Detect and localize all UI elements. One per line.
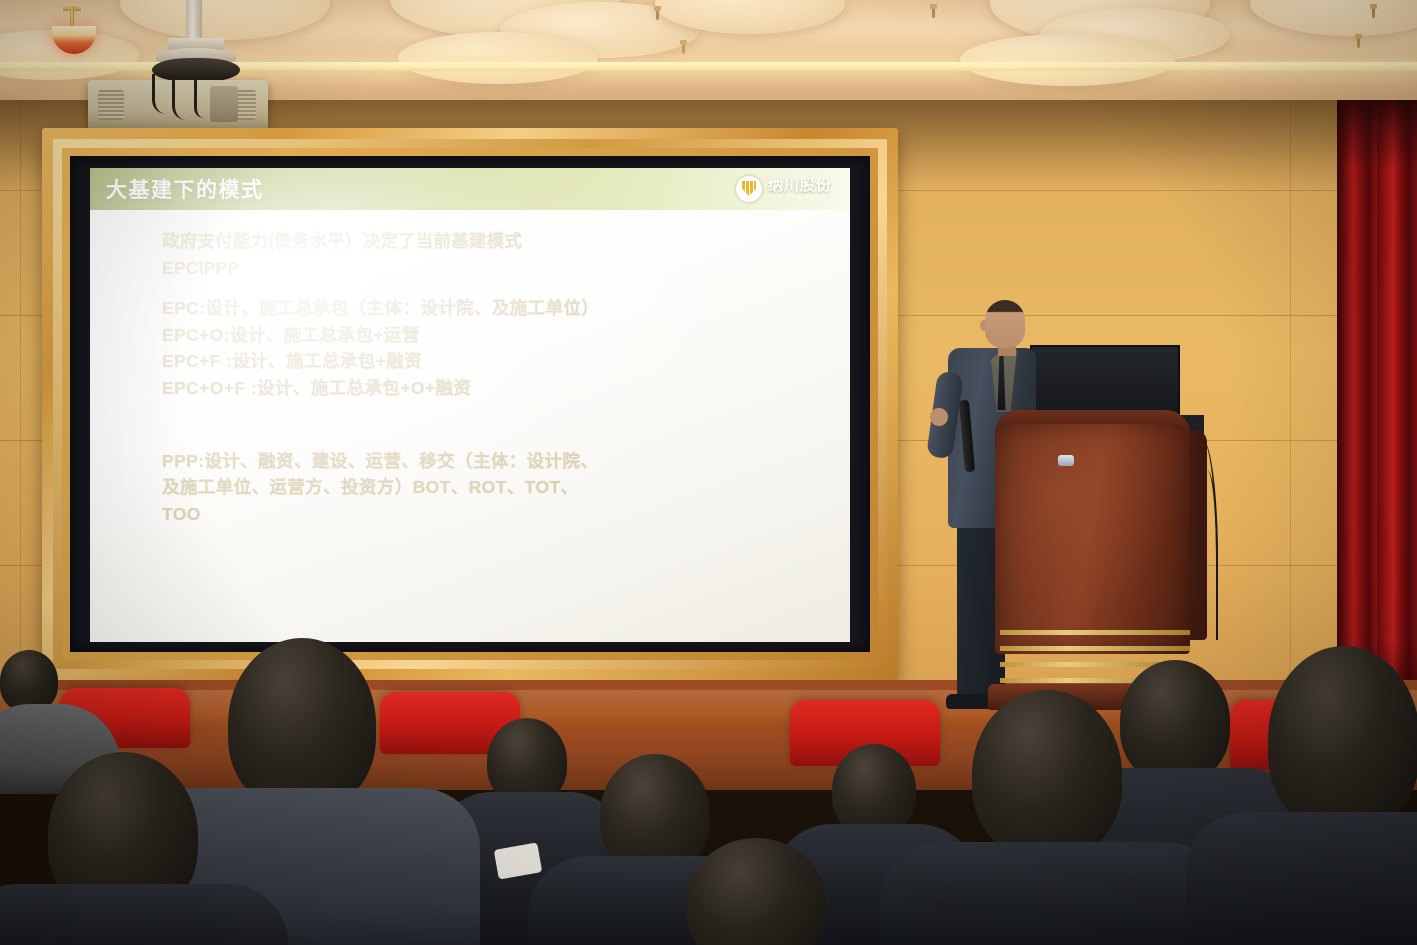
audience-member — [1120, 660, 1230, 782]
projector-lens — [210, 86, 238, 122]
presenter-hand — [930, 408, 948, 426]
company-logo: 纳川股份 NEWCHOICE PIPE — [736, 176, 832, 202]
sprinkler-head-icon — [680, 40, 687, 54]
audience-member — [228, 638, 376, 810]
audience-member — [1268, 646, 1417, 832]
slide-lead-line: 政府支付能力(债务水平）决定了当前基建模式 — [162, 228, 850, 255]
projector-cable — [172, 74, 186, 120]
projection-screen: 大基建下的模式 纳川股份 NEWCHOICE PIPE 政府支付能力(债务水平）… — [90, 168, 850, 642]
projector-cable — [194, 76, 204, 118]
presenter-head — [985, 300, 1025, 348]
audience-member — [832, 744, 916, 836]
slide-epc-line: EPC:设计、施工总承包（主体：设计院、及施工单位） — [162, 295, 850, 322]
projector-mount-pole — [186, 0, 202, 40]
sprinkler-head-icon — [930, 4, 937, 18]
curtain-top-shadow — [1337, 100, 1417, 170]
slide-title: 大基建下的模式 — [106, 174, 264, 204]
audience-member-shoulders — [1186, 812, 1417, 945]
slide-ppp-line: TOO — [162, 501, 850, 528]
slide-content: 政府支付能力(债务水平）决定了当前基建模式 EPC\PPP EPC:设计、施工总… — [90, 210, 850, 527]
confidence-monitor — [1030, 345, 1180, 417]
slide-epc-line: EPC+F :设计、施工总承包+融资 — [162, 348, 850, 375]
sprinkler-head-icon — [654, 6, 661, 20]
conference-hall-photo: 大基建下的模式 纳川股份 NEWCHOICE PIPE 政府支付能力(债务水平）… — [0, 0, 1417, 945]
wooden-podium — [995, 424, 1190, 654]
audience-member-shoulders — [0, 884, 288, 945]
shield-emblem-icon — [736, 176, 762, 202]
logo-company-name-cn: 纳川股份 — [768, 178, 832, 193]
audience-member-shoulders — [880, 842, 1226, 945]
projector-cable — [152, 74, 170, 114]
slide-title-bar: 大基建下的模式 纳川股份 NEWCHOICE PIPE — [90, 168, 850, 210]
audience-member — [0, 650, 58, 712]
slide-epc-line: EPC+O+F :设计、施工总承包+O+融资 — [162, 375, 850, 402]
sprinkler-head-icon — [1355, 34, 1362, 48]
podium-emblem — [1058, 455, 1074, 466]
logo-company-name-en: NEWCHOICE PIPE — [768, 195, 832, 200]
slide-epc-line: EPC+O:设计、施工总承包+运营 — [162, 322, 850, 349]
slide-ppp-line: PPP:设计、融资、建设、运营、移交（主体：设计院、 — [162, 448, 850, 475]
pendant-lamp-stem — [70, 6, 74, 28]
ceiling-decor-blob — [960, 34, 1175, 86]
slide-lead-line: EPC\PPP — [162, 255, 850, 282]
presenter-shoe — [946, 694, 992, 709]
slide-ppp-line: 及施工单位、运营方、投资方）BOT、ROT、TOT、 — [162, 474, 850, 501]
ceiling-decor-blob — [398, 32, 598, 84]
sprinkler-head-icon — [1370, 4, 1377, 18]
audience-member — [972, 690, 1122, 858]
